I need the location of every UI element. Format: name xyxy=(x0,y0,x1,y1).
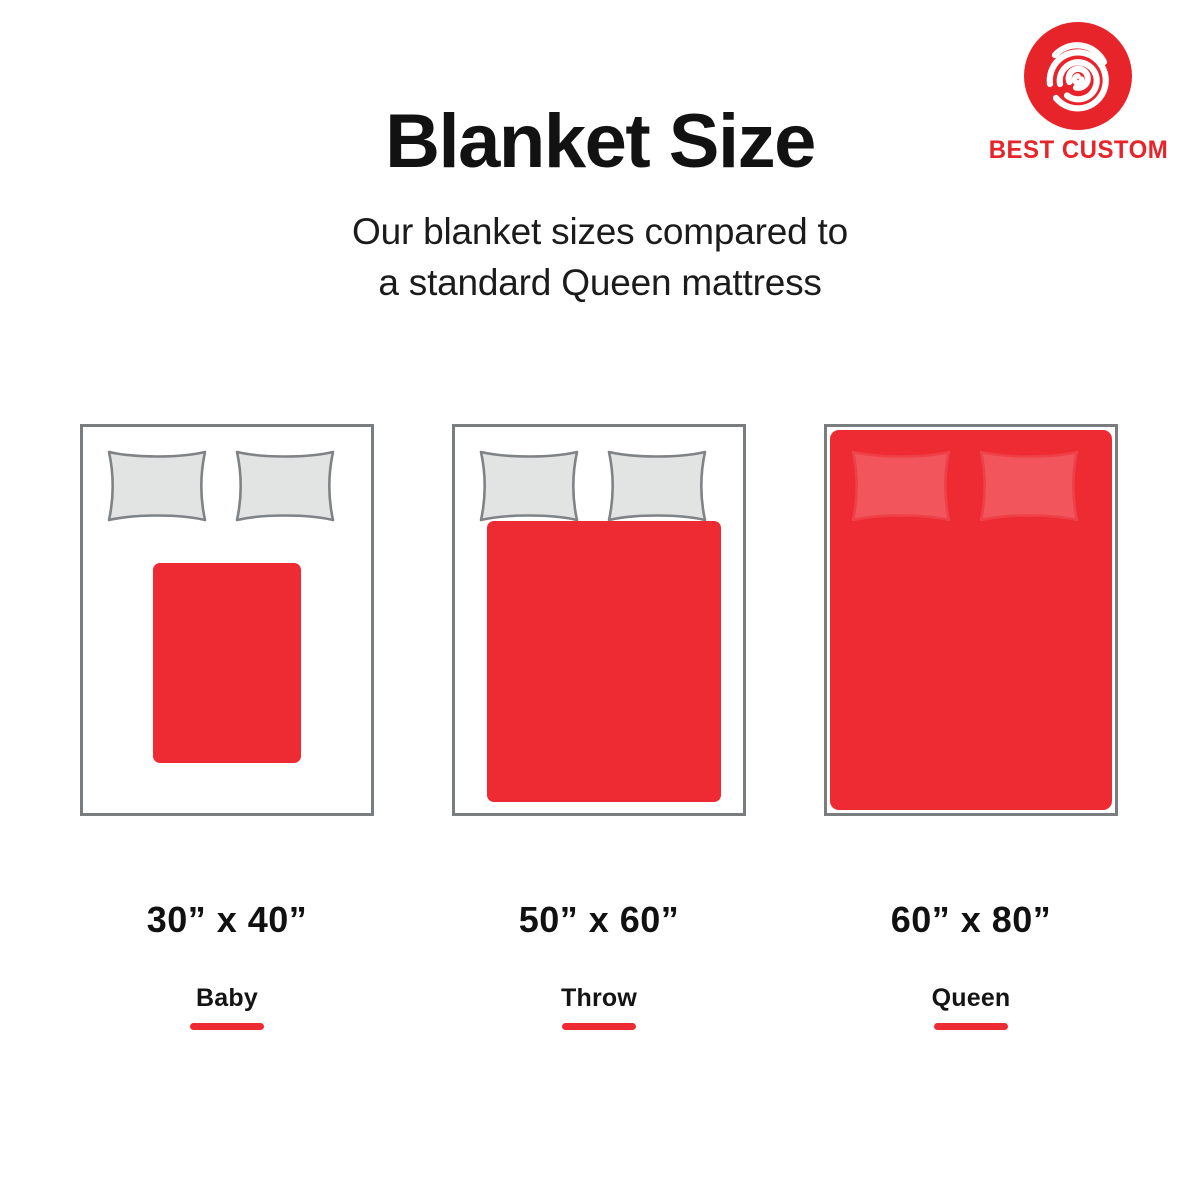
pillow-icon xyxy=(477,449,581,523)
mattress-outline xyxy=(824,424,1118,816)
pillow-icon xyxy=(977,449,1081,523)
dimension-text: 30” x 40” xyxy=(80,900,374,940)
size-name-text: Baby xyxy=(80,985,374,1013)
underline-accent xyxy=(190,1023,264,1030)
underline-accent xyxy=(934,1023,1008,1030)
pillow-icon xyxy=(605,449,709,523)
page-title: Blanket Size xyxy=(0,104,1200,180)
blanket-shape-throw xyxy=(487,521,721,802)
mattress-outline xyxy=(452,424,746,816)
dimension-text: 60” x 80” xyxy=(824,900,1118,940)
pillow-icon xyxy=(849,449,953,523)
pillow-icon xyxy=(233,449,337,523)
pillow-icon xyxy=(105,449,209,523)
bed-diagram-queen xyxy=(824,424,1118,816)
size-name-text: Queen xyxy=(824,985,1118,1013)
header: Blanket Size Our blanket sizes compared … xyxy=(0,104,1200,308)
size-name-text: Throw xyxy=(452,985,746,1013)
label-group-baby: 30” x 40” Baby xyxy=(80,900,374,1030)
page-subtitle: Our blanket sizes compared to a standard… xyxy=(220,206,980,308)
blanket-shape-baby xyxy=(153,563,301,763)
dimension-text: 50” x 60” xyxy=(452,900,746,940)
bed-comparison-row xyxy=(0,424,1200,824)
label-group-queen: 60” x 80” Queen xyxy=(824,900,1118,1030)
subtitle-line-2: a standard Queen mattress xyxy=(220,257,980,308)
bed-diagram-throw xyxy=(452,424,746,816)
bed-diagram-baby xyxy=(80,424,374,816)
mattress-outline xyxy=(80,424,374,816)
underline-accent xyxy=(562,1023,636,1030)
label-group-throw: 50” x 60” Throw xyxy=(452,900,746,1030)
labels-row: 30” x 40” Baby 50” x 60” Throw 60” x 80”… xyxy=(0,900,1200,1060)
subtitle-line-1: Our blanket sizes compared to xyxy=(220,206,980,257)
